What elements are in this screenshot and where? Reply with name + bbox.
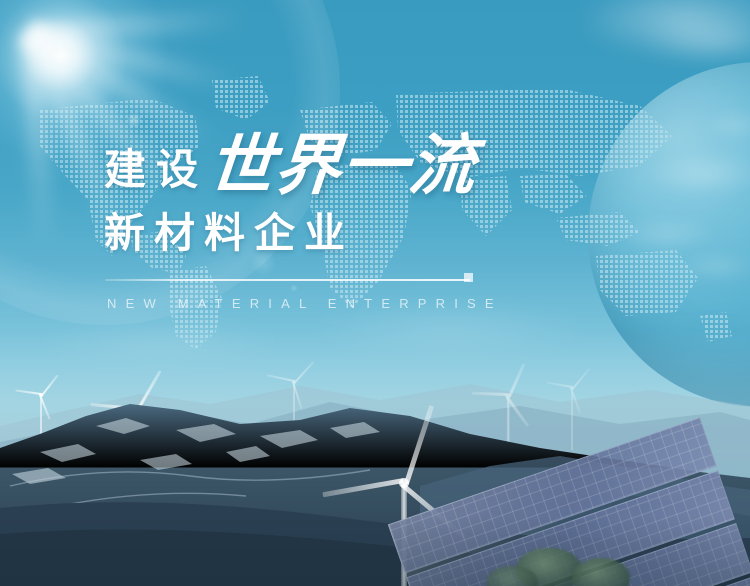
- lens-flare-dot: [126, 112, 142, 128]
- subtitle: NEW MATERIAL ENTERPRISE: [107, 297, 503, 310]
- headline-line-1: 建设 世界一流: [104, 132, 476, 198]
- lens-flare-dot: [290, 284, 298, 292]
- headline-emphasis: 世界一流: [205, 132, 479, 198]
- divider-end-marker: [464, 273, 473, 282]
- divider: [105, 279, 470, 281]
- bottom-vignette: [0, 516, 750, 586]
- headline-prefix: 建设: [104, 149, 208, 198]
- headline-line-2: 新材料企业: [104, 213, 354, 254]
- landscape-scene: [0, 330, 750, 586]
- hero-banner: 建设 世界一流 新材料企业 NEW MATERIAL ENTERPRISE: [0, 0, 750, 586]
